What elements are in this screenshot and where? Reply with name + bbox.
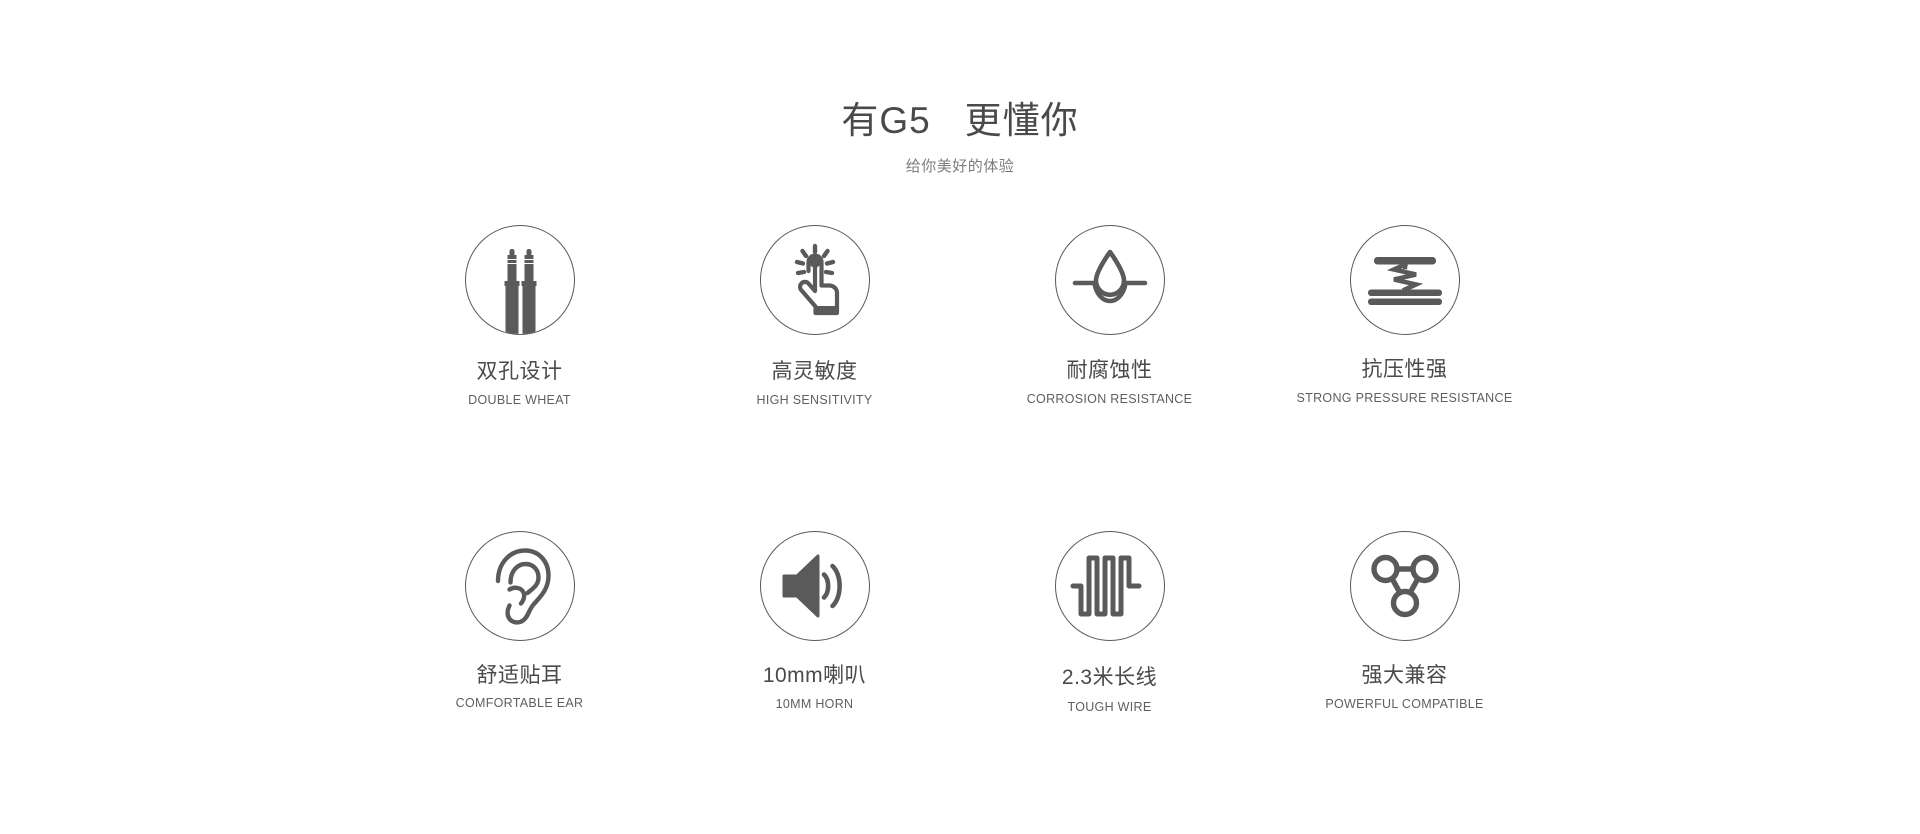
feature-sublabel: POWERFUL COMPATIBLE [1325, 696, 1483, 712]
water-droplet-icon [1055, 225, 1165, 335]
feature-label: 10mm喇叭 [763, 663, 866, 689]
feature-sublabel: DOUBLE WHEAT [468, 392, 571, 408]
feature-item-tough-wire[interactable]: 2.3米长线 TOUGH WIRE [962, 531, 1257, 715]
feature-icon-badge [1350, 225, 1460, 335]
feature-item-pressure-resistance[interactable]: 抗压性强 STRONG PRESSURE RESISTANCE [1257, 225, 1552, 406]
feature-label: 耐腐蚀性 [1067, 358, 1153, 384]
touch-hand-sensitivity-icon [760, 225, 870, 335]
feature-item-double-wheat[interactable]: 双孔设计 DOUBLE WHEAT [372, 225, 667, 408]
page-subtitle: 给你美好的体验 [0, 157, 1920, 177]
feature-item-high-sensitivity[interactable]: 高灵敏度 HIGH SENSITIVITY [667, 225, 962, 408]
feature-sublabel: HIGH SENSITIVITY [757, 392, 873, 408]
feature-icon-badge [1055, 531, 1165, 641]
feature-sublabel: 10MM HORN [776, 696, 854, 712]
feature-sublabel: TOUGH WIRE [1067, 699, 1151, 715]
speaker-volume-icon [760, 531, 870, 641]
feature-item-10mm-horn[interactable]: 10mm喇叭 10MM HORN [667, 531, 962, 712]
feature-label: 舒适贴耳 [477, 663, 563, 689]
feature-sublabel: STRONG PRESSURE RESISTANCE [1297, 390, 1513, 406]
features-grid: 双孔设计 DOUBLE WHEAT [372, 225, 1552, 715]
ear-icon [465, 531, 575, 641]
feature-label: 双孔设计 [477, 359, 563, 385]
feature-label: 高灵敏度 [772, 359, 858, 385]
feature-icon-badge [1350, 531, 1460, 641]
features-row-2: 舒适贴耳 COMFORTABLE EAR [372, 531, 1552, 715]
feature-grid-page: 有G5 更懂你 给你美好的体验 [0, 0, 1920, 834]
feature-icon-badge [465, 225, 575, 335]
dual-jack-plug-icon [465, 225, 575, 335]
page-title: 有G5 更懂你 [0, 98, 1920, 144]
page-header: 有G5 更懂你 给你美好的体验 [0, 98, 1920, 177]
features-row-1: 双孔设计 DOUBLE WHEAT [372, 225, 1552, 408]
feature-item-powerful-compatible[interactable]: 强大兼容 POWERFUL COMPATIBLE [1257, 531, 1552, 712]
feature-icon-badge [1055, 225, 1165, 335]
feature-item-comfortable-ear[interactable]: 舒适贴耳 COMFORTABLE EAR [372, 531, 667, 711]
feature-item-corrosion-resistance[interactable]: 耐腐蚀性 CORROSION RESISTANCE [962, 225, 1257, 407]
connected-nodes-icon [1350, 531, 1460, 641]
feature-label: 2.3米长线 [1062, 665, 1157, 691]
feature-label: 强大兼容 [1362, 663, 1448, 689]
feature-sublabel: COMFORTABLE EAR [456, 695, 584, 711]
feature-icon-badge [760, 531, 870, 641]
feature-icon-badge [760, 225, 870, 335]
feature-label: 抗压性强 [1362, 357, 1448, 383]
coiled-wire-icon [1055, 531, 1165, 641]
compression-spring-icon [1350, 225, 1460, 335]
feature-icon-badge [465, 531, 575, 641]
feature-sublabel: CORROSION RESISTANCE [1027, 391, 1193, 407]
